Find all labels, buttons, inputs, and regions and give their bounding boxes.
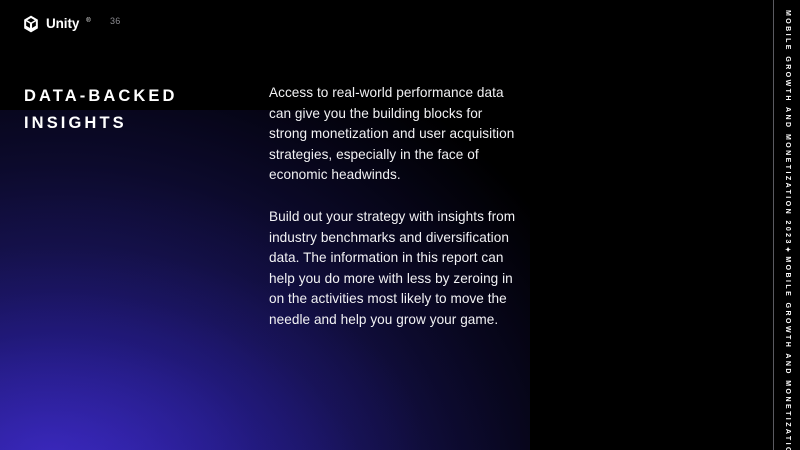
- body-paragraph-1: Access to real-world performance data ca…: [269, 83, 519, 186]
- page-title-line-1: DATA-BACKED: [24, 83, 244, 110]
- sparkle-separator-icon-1: ✦: [777, 246, 798, 256]
- side-rail-label-text-2: MOBILE GROWTH AND MONETIZATION 2023: [784, 256, 791, 450]
- side-rail: MOBILE GROWTH AND MONETIZATION 2023✦MOBI…: [774, 0, 800, 450]
- page-title: DATA-BACKED INSIGHTS: [24, 83, 244, 136]
- slide-header: Unity ® 36: [22, 13, 91, 35]
- body-copy: Access to real-world performance data ca…: [269, 83, 519, 331]
- unity-wordmark: Unity: [46, 17, 79, 31]
- side-rail-label: MOBILE GROWTH AND MONETIZATION 2023✦MOBI…: [774, 0, 800, 450]
- unity-cube-logo-icon: [22, 15, 40, 33]
- side-rail-label-text-1: MOBILE GROWTH AND MONETIZATION 2023: [784, 10, 791, 246]
- slide: Unity ® 36 DATA-BACKED INSIGHTS Access t…: [0, 0, 800, 450]
- body-paragraph-2: Build out your strategy with insights fr…: [269, 207, 519, 331]
- registered-trademark-icon: ®: [86, 18, 90, 24]
- page-title-line-2: INSIGHTS: [24, 110, 244, 137]
- unity-logo-lockup: Unity ®: [22, 15, 91, 33]
- page-number: 36: [110, 16, 120, 26]
